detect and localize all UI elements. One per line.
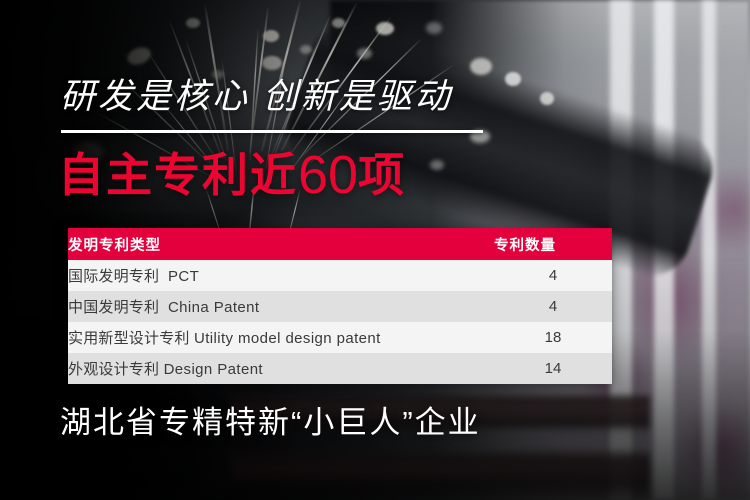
patent-type-cn: 外观设计专利 (68, 361, 159, 378)
headline-red-suffix: 项 (358, 149, 406, 201)
headline-primary: 研发是核心 创新是驱动 (60, 78, 453, 117)
cell-patent-count: 18 (494, 322, 612, 353)
table-body: 国际发明专利 PCT 4 中国发明专利 China Patent 4 实用新型设… (68, 260, 612, 384)
banner-canvas: 研发是核心 创新是驱动 自主专利近60项 发明专利类型 专利数量 国际发明专利 … (0, 0, 750, 500)
cell-patent-type: 国际发明专利 PCT (68, 260, 494, 291)
headline-divider (61, 130, 483, 133)
patent-type-en: PCT (168, 268, 199, 285)
patent-type-cn: 国际发明专利 (68, 268, 159, 285)
banner-content: 研发是核心 创新是驱动 自主专利近60项 发明专利类型 专利数量 国际发明专利 … (0, 0, 750, 500)
cell-patent-type: 实用新型设计专利 Utility model design patent (68, 322, 494, 353)
patent-type-cn: 实用新型设计专利 (68, 330, 190, 347)
column-header-patent-count: 专利数量 (494, 228, 612, 260)
patent-type-cn: 中国发明专利 (68, 299, 159, 316)
headline-patent-count: 60 (298, 145, 358, 205)
cell-patent-count: 14 (494, 353, 612, 384)
table-header: 发明专利类型 专利数量 (68, 228, 612, 260)
patent-type-en: Design Patent (164, 361, 263, 378)
table-row: 实用新型设计专利 Utility model design patent 18 (68, 322, 612, 353)
cell-patent-count: 4 (494, 291, 612, 322)
cell-patent-count: 4 (494, 260, 612, 291)
headline-secondary: 自主专利近60项 (58, 144, 406, 206)
table-row: 国际发明专利 PCT 4 (68, 260, 612, 291)
cell-patent-type: 外观设计专利 Design Patent (68, 353, 494, 384)
column-header-patent-type: 发明专利类型 (68, 228, 494, 260)
patent-table: 发明专利类型 专利数量 国际发明专利 PCT 4 中国发明专利 China Pa… (68, 228, 612, 384)
patent-type-en: China Patent (168, 299, 260, 316)
table-row: 中国发明专利 China Patent 4 (68, 291, 612, 322)
cell-patent-type: 中国发明专利 China Patent (68, 291, 494, 322)
tagline-text: 湖北省专精特新“小巨人”企业 (60, 405, 481, 441)
table-row: 外观设计专利 Design Patent 14 (68, 353, 612, 384)
patent-type-en: Utility model design patent (194, 330, 381, 347)
headline-red-prefix: 自主专利近 (58, 149, 298, 201)
table-header-row: 发明专利类型 专利数量 (68, 228, 612, 260)
